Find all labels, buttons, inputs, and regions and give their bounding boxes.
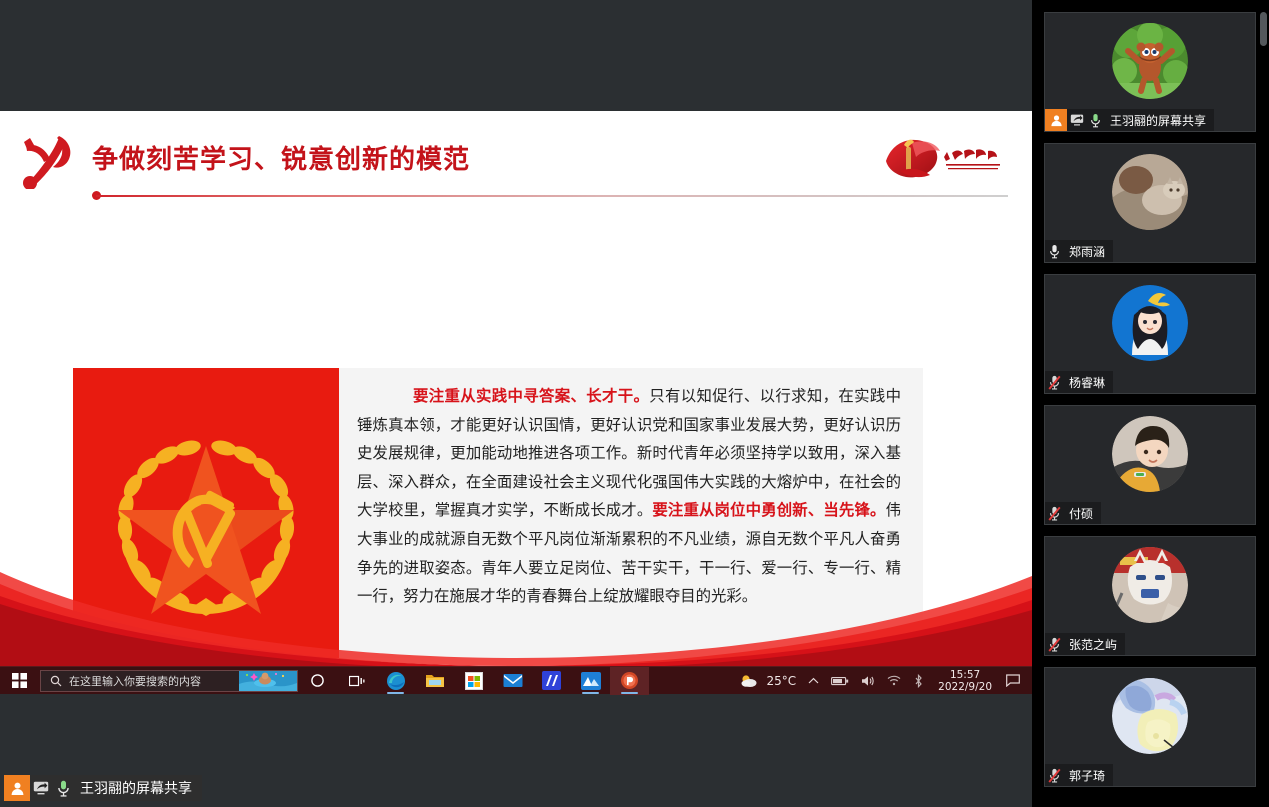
participant-label: 郑雨涵 — [1045, 240, 1113, 262]
search-input[interactable]: 在这里输入你要搜索的内容 — [40, 670, 298, 692]
participant-name: 郑雨涵 — [1069, 243, 1105, 260]
participant-name: 张范之屿 — [1069, 636, 1117, 653]
slide-body-highlight-1: 要注重从实践中寻答案、长才干。 — [413, 387, 649, 405]
wifi-icon[interactable] — [881, 667, 907, 695]
participant-name: 郭子琦 — [1069, 767, 1105, 784]
search-icon — [50, 675, 62, 687]
slide-title-row: 争做刻苦学习、锐意创新的模范 — [0, 129, 1032, 191]
system-tray: 25°C — [734, 667, 1033, 695]
volume-icon[interactable] — [855, 667, 881, 695]
title-rule — [96, 195, 1008, 197]
party-hammer-sickle-emblem-icon — [18, 133, 84, 189]
taskbar-app-file-explorer[interactable] — [415, 667, 454, 695]
slide-body-highlight-2: 要注重从岗位中勇创新、当先锋。 — [652, 501, 885, 519]
participant-name: 王羽翮的屏幕共享 — [1110, 112, 1206, 129]
taskbar-app-mail[interactable] — [493, 667, 532, 695]
participant-label: 张范之屿 — [1045, 633, 1125, 655]
show-hidden-icons-chevron-icon[interactable] — [802, 667, 825, 695]
microphone-muted-icon — [1045, 371, 1064, 393]
powerpoint-slide: 争做刻苦学习、锐意创新的模范 — [0, 111, 1032, 666]
slide-title: 争做刻苦学习、锐意创新的模范 — [92, 139, 470, 176]
app-running-indicator — [621, 692, 638, 694]
participant-name: 杨睿琳 — [1069, 374, 1105, 391]
windows-taskbar[interactable]: 在这里输入你要搜索的内容 — [0, 666, 1032, 694]
taskbar-clock[interactable]: 15:57 2022/9/20 — [930, 667, 1000, 695]
red-flag-torch-logo-icon — [882, 135, 1010, 183]
taskbar-app-microsoft-edge[interactable] — [376, 667, 415, 695]
clock-time: 15:57 — [950, 669, 980, 681]
taskbar-app-microsoft-store[interactable] — [454, 667, 493, 695]
participant-tile[interactable]: 郭子琦 — [1044, 667, 1256, 787]
notification-center-icon[interactable] — [1000, 667, 1026, 695]
participant-label: 郭子琦 — [1045, 764, 1113, 786]
participant-tile[interactable]: 张范之屿 — [1044, 536, 1256, 656]
taskbar-app-blue-a[interactable] — [532, 667, 571, 695]
microphone-on-icon — [1045, 240, 1064, 262]
participant-label: 王羽翮的屏幕共享 — [1045, 109, 1214, 131]
avatar — [1112, 416, 1188, 492]
weather-partly-cloudy-icon[interactable] — [734, 667, 764, 695]
screen-share-icon — [30, 775, 52, 801]
weather-temperature[interactable]: 25°C — [764, 667, 803, 695]
desktop-top-background — [0, 0, 1032, 111]
host-person-icon — [4, 775, 30, 801]
cortana-circle-icon[interactable] — [298, 667, 337, 695]
avatar — [1112, 285, 1188, 361]
search-highlight-thumbnail-icon[interactable] — [239, 671, 297, 692]
participant-tile[interactable]: 郑雨涵 — [1044, 143, 1256, 263]
app-running-indicator — [387, 692, 404, 694]
microphone-on-icon — [1086, 109, 1105, 131]
search-placeholder-text: 在这里输入你要搜索的内容 — [69, 673, 201, 689]
participants-rail[interactable]: 王羽翮的屏幕共享 — [1036, 0, 1269, 807]
slide-body-paragraph-1: 只有以知促行、以行求知，在实践中锤炼真本领，才能更好认识国情，更好认识党和国家事… — [357, 387, 901, 519]
battery-icon[interactable] — [825, 667, 855, 695]
screen-share-icon — [1067, 109, 1086, 131]
red-silk-ribbon-decoration — [0, 570, 1032, 666]
participant-label: 杨睿琳 — [1045, 371, 1113, 393]
participant-label: 付硕 — [1045, 502, 1101, 524]
microphone-muted-icon — [1045, 633, 1064, 655]
participant-tile[interactable]: 杨睿琳 — [1044, 274, 1256, 394]
host-person-icon — [1045, 109, 1067, 131]
avatar — [1112, 154, 1188, 230]
taskbar-app-powerpoint[interactable] — [610, 667, 649, 695]
screen-share-status-bar[interactable]: 王羽翮的屏幕共享 — [4, 775, 202, 801]
participant-tile[interactable]: 付硕 — [1044, 405, 1256, 525]
avatar — [1112, 678, 1188, 754]
avatar — [1112, 23, 1188, 99]
windows-start-icon[interactable] — [0, 667, 38, 695]
meeting-screen-share-window: 争做刻苦学习、锐意创新的模范 — [0, 0, 1269, 807]
screen-share-owner-name: 王羽翮的屏幕共享 — [80, 778, 192, 798]
app-running-indicator — [582, 692, 599, 694]
participants-scrollbar-thumb[interactable] — [1260, 12, 1267, 46]
bluetooth-icon[interactable] — [907, 667, 930, 695]
clock-date: 2022/9/20 — [938, 681, 992, 693]
microphone-on-icon — [52, 775, 74, 801]
avatar — [1112, 547, 1188, 623]
shared-screen-area: 争做刻苦学习、锐意创新的模范 — [0, 0, 1032, 807]
participant-name: 付硕 — [1069, 505, 1093, 522]
participant-tile[interactable]: 王羽翮的屏幕共享 — [1044, 12, 1256, 132]
taskbar-app-blue-mountain[interactable] — [571, 667, 610, 695]
microphone-muted-icon — [1045, 764, 1064, 786]
microphone-muted-icon — [1045, 502, 1064, 524]
task-view-icon[interactable] — [337, 667, 376, 695]
